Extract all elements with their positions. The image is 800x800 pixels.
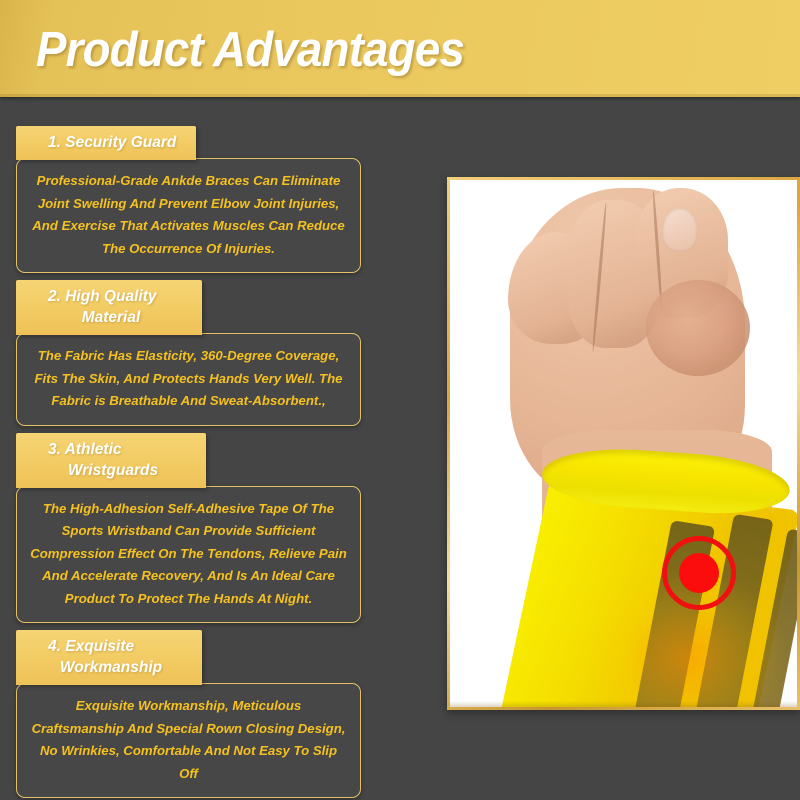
product-advantages-infographic: Product Advantages 1. Security Guard Pro… [0,0,800,800]
feature-tab-4: 4. Exquisite Workmanship [16,630,202,685]
feature-block-4: 4. Exquisite Workmanship Exquisite Workm… [16,630,361,798]
photo-bottom-fade [450,701,797,707]
feature-tab-4-line-2: Workmanship [30,657,188,678]
feature-block-2: 2. High Quality Material The Fabric Has … [16,280,361,426]
feature-body-1: Professional-Grade Ankde Braces Can Elim… [16,158,361,273]
pain-point-marker-icon [662,536,736,610]
feature-body-1-text: Professional-Grade Ankde Braces Can Elim… [30,170,347,260]
feature-body-2-text: The Fabric Has Elasticity, 360-Degree Co… [30,345,347,413]
feature-tab-3-line-2: Wristguards [30,460,192,481]
feature-body-3-text: The High-Adhesion Self-Adhesive Tape Of … [30,498,347,611]
fingernail-shape [662,208,698,252]
feature-tab-3-line-1: 3. Athletic [30,439,192,460]
feature-body-4-text: Exquisite Workmanship, Meticulous Crafts… [30,695,347,785]
wristband-sleeve [500,480,797,707]
feature-tab-2: 2. High Quality Material [16,280,202,335]
product-photo-panel [447,177,800,710]
product-photo [450,180,797,707]
feature-block-1: 1. Security Guard Professional-Grade Ank… [16,126,361,273]
feature-tab-1: 1. Security Guard [16,126,196,160]
thumb-knuckle-shape [646,280,750,376]
page-title: Product Advantages [36,21,464,79]
feature-tab-1-line-1: 1. Security Guard [30,132,182,153]
feature-tab-3: 3. Athletic Wristguards [16,433,206,488]
header-banner: Product Advantages [0,0,800,97]
feature-tab-2-line-1: 2. High Quality [30,286,188,307]
feature-tab-2-line-2: Material [30,307,188,328]
feature-tab-4-line-1: 4. Exquisite [30,636,188,657]
feature-block-3: 3. Athletic Wristguards The High-Adhesio… [16,433,361,624]
feature-body-2: The Fabric Has Elasticity, 360-Degree Co… [16,333,361,426]
features-column: 1. Security Guard Professional-Grade Ank… [16,126,361,800]
pain-marker-dot [679,553,719,593]
feature-body-3: The High-Adhesion Self-Adhesive Tape Of … [16,486,361,624]
feature-body-4: Exquisite Workmanship, Meticulous Crafts… [16,683,361,798]
